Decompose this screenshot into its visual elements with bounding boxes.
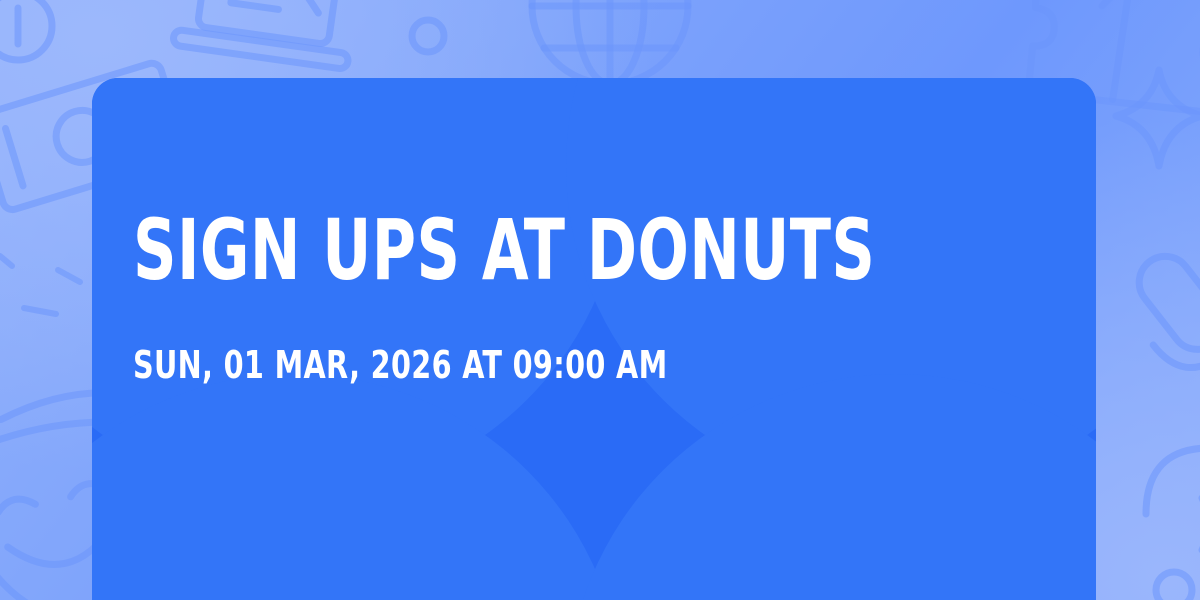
event-card-content: SIGN UPS AT DONUTS SUN, 01 MAR, 2026 AT … [92, 78, 1096, 600]
event-datetime: SUN, 01 MAR, 2026 AT 09:00 AM [133, 346, 668, 384]
microphone-icon [1130, 222, 1200, 402]
event-card: SIGN UPS AT DONUTS SUN, 01 MAR, 2026 AT … [92, 78, 1096, 600]
coin-icon [0, 0, 86, 98]
event-banner: SIGN UPS AT DONUTS SUN, 01 MAR, 2026 AT … [0, 0, 1200, 600]
paper-plane-icon [1130, 418, 1200, 588]
dot-icon [1088, 0, 1148, 26]
dot-icon [1140, 556, 1200, 600]
event-title: SIGN UPS AT DONUTS [133, 208, 875, 292]
dot-icon [398, 6, 458, 66]
ticket-icon [1010, 0, 1200, 90]
sparkle-icon [1104, 58, 1200, 178]
